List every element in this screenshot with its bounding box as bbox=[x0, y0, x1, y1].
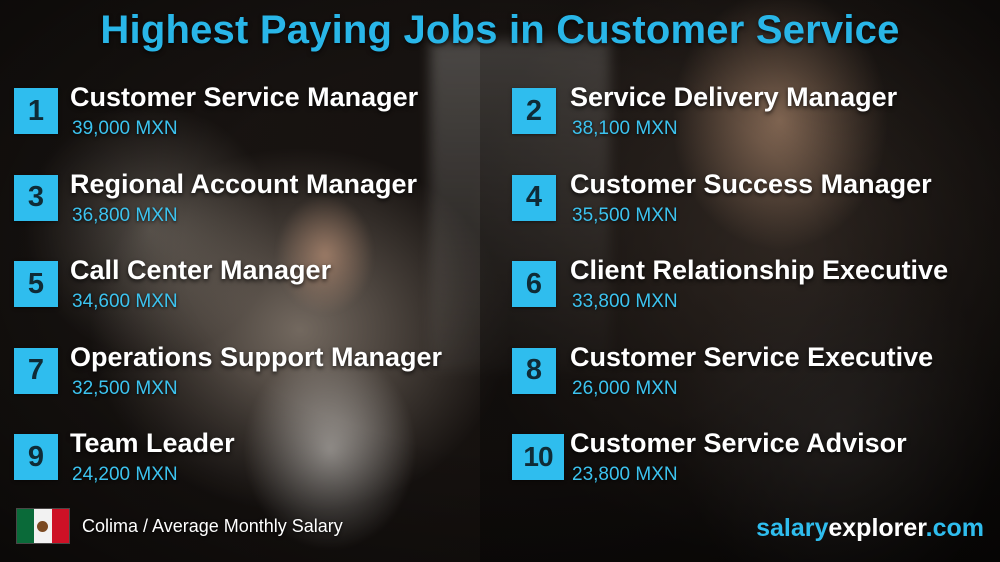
job-salary: 33,800 MXN bbox=[572, 291, 678, 313]
job-title: Team Leader bbox=[70, 428, 235, 459]
rank-badge: 6 bbox=[512, 261, 556, 307]
job-salary: 32,500 MXN bbox=[72, 378, 178, 400]
rank-badge: 8 bbox=[512, 348, 556, 394]
brand-part-domain: .com bbox=[926, 514, 984, 542]
list-item: 5 Call Center Manager 34,600 MXN bbox=[0, 257, 500, 344]
brand-part-explorer: explorer bbox=[828, 514, 925, 542]
job-title: Operations Support Manager bbox=[70, 342, 442, 373]
mexico-flag-icon bbox=[16, 508, 70, 544]
job-salary: 24,200 MXN bbox=[72, 464, 178, 486]
job-title: Customer Service Executive bbox=[570, 342, 933, 373]
job-title: Service Delivery Manager bbox=[570, 82, 897, 113]
job-salary: 34,600 MXN bbox=[72, 291, 178, 313]
job-list: 1 Customer Service Manager 39,000 MXN 3 … bbox=[0, 84, 1000, 504]
rank-badge: 2 bbox=[512, 88, 556, 134]
list-item: 6 Client Relationship Executive 33,800 M… bbox=[500, 257, 1000, 344]
list-item: 2 Service Delivery Manager 38,100 MXN bbox=[500, 84, 1000, 171]
flag-band-white bbox=[34, 509, 51, 543]
job-salary: 38,100 MXN bbox=[572, 118, 678, 140]
job-title: Customer Service Manager bbox=[70, 82, 418, 113]
job-title: Customer Success Manager bbox=[570, 169, 932, 200]
job-salary: 36,800 MXN bbox=[72, 205, 178, 227]
rank-badge: 10 bbox=[512, 434, 564, 480]
flag-band-green bbox=[17, 509, 34, 543]
list-item: 7 Operations Support Manager 32,500 MXN bbox=[0, 344, 500, 431]
list-item: 3 Regional Account Manager 36,800 MXN bbox=[0, 171, 500, 258]
rank-badge: 3 bbox=[14, 175, 58, 221]
job-salary: 23,800 MXN bbox=[572, 464, 678, 486]
job-list-right-column: 2 Service Delivery Manager 38,100 MXN 4 … bbox=[500, 84, 1000, 517]
list-item: 8 Customer Service Executive 26,000 MXN bbox=[500, 344, 1000, 431]
rank-badge: 7 bbox=[14, 348, 58, 394]
brand-logo[interactable]: salaryexplorer.com bbox=[756, 514, 984, 543]
list-item: 1 Customer Service Manager 39,000 MXN bbox=[0, 84, 500, 171]
job-title: Regional Account Manager bbox=[70, 169, 417, 200]
footer: Colima / Average Monthly Salary salaryex… bbox=[0, 500, 1000, 562]
rank-badge: 4 bbox=[512, 175, 556, 221]
page-title: Highest Paying Jobs in Customer Service bbox=[0, 8, 1000, 53]
flag-emblem bbox=[37, 521, 48, 532]
job-title: Client Relationship Executive bbox=[570, 255, 948, 286]
brand-part-salary: salary bbox=[756, 514, 828, 542]
job-salary: 35,500 MXN bbox=[572, 205, 678, 227]
list-item: 4 Customer Success Manager 35,500 MXN bbox=[500, 171, 1000, 258]
job-list-left-column: 1 Customer Service Manager 39,000 MXN 3 … bbox=[0, 84, 500, 517]
job-salary: 26,000 MXN bbox=[572, 378, 678, 400]
rank-badge: 9 bbox=[14, 434, 58, 480]
job-title: Call Center Manager bbox=[70, 255, 331, 286]
region-label: Colima / Average Monthly Salary bbox=[82, 516, 343, 537]
rank-badge: 1 bbox=[14, 88, 58, 134]
job-salary: 39,000 MXN bbox=[72, 118, 178, 140]
flag-band-red bbox=[52, 509, 69, 543]
infographic-root: Highest Paying Jobs in Customer Service … bbox=[0, 0, 1000, 562]
rank-badge: 5 bbox=[14, 261, 58, 307]
job-title: Customer Service Advisor bbox=[570, 428, 907, 459]
